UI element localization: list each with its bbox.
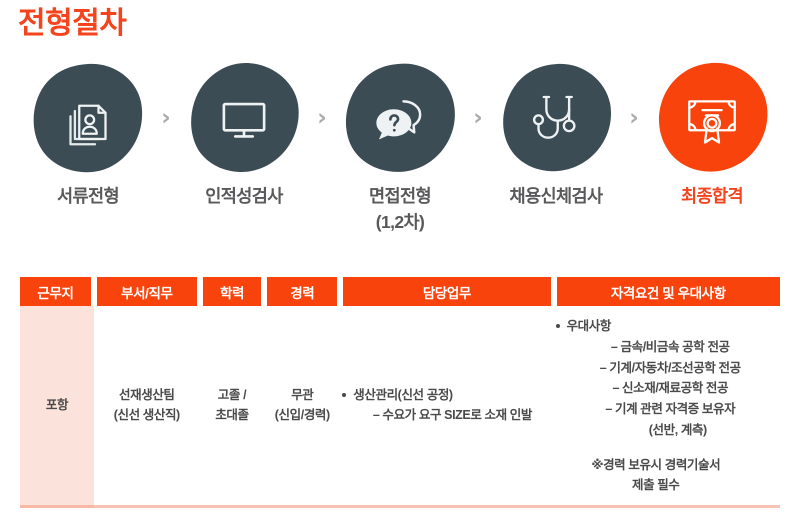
table-body: 포항 선재생산팀 (신선 생산직) 고졸 / 초대졸 무관 (신입/경력) [20, 306, 780, 508]
note-line-2: 제출 필수 [556, 476, 756, 495]
duties-bullet-item: 생산관리(신선 공정) [342, 385, 551, 405]
cell-qualifications: 우대사항 – 금속/비금속 공학 전공 – 기계/자동차/조선공학 전공 – 신… [554, 306, 780, 508]
column-header-duties: 담당업무 [340, 277, 553, 306]
step-icon-blob [32, 62, 144, 174]
stethoscope-icon [528, 90, 584, 146]
column-header-experience: 경력 [264, 277, 340, 306]
recruitment-process-flow: 서류전형 › 인적성검사 › [0, 62, 800, 257]
step-icon-blob [188, 62, 300, 174]
column-header-location: 근무지 [20, 277, 94, 306]
qualifications-bullet-text: 우대사항 [567, 316, 611, 336]
bullet-dot-icon [556, 324, 560, 328]
process-step-aptitude-test: 인적성검사 [183, 62, 305, 209]
monitor-icon [216, 90, 272, 146]
step-sublabel: (1,2차) [376, 209, 424, 234]
cell-department: 선재생산팀 (신선 생산직) [94, 306, 200, 508]
process-step-medical-exam: 채용신체검사 [495, 62, 617, 209]
experience-line-2: (신입/경력) [266, 405, 338, 425]
bullet-dot-icon [342, 393, 346, 397]
qualifications-sub-item-4: – 기계 관련 자격증 보유자 [556, 399, 778, 420]
note-line-1: ※경력 보유시 경력기술서 [556, 456, 756, 475]
duties-sub-item: – 수요가 요구 SIZE로 소재 인발 [342, 405, 551, 425]
qualifications-sub-item-3: – 신소재/재료공학 전공 [556, 378, 778, 399]
qualifications-bullet-item: 우대사항 [556, 316, 778, 336]
step-icon-blob [656, 62, 768, 174]
cell-location: 포항 [20, 306, 94, 508]
document-person-icon [60, 90, 116, 146]
qualifications-sub-item-2: – 기계/자동차/조선공학 전공 [556, 358, 778, 379]
cell-education: 고졸 / 초대졸 [200, 306, 265, 508]
department-line-1: 선재생산팀 [96, 385, 198, 405]
step-label: 채용신체검사 [510, 185, 603, 209]
step-icon-blob [344, 62, 456, 174]
process-separator-chevron-icon: › [149, 62, 183, 174]
table-header-row: 근무지 부서/직무 학력 경력 담당업무 자격요건 및 우대사항 [20, 277, 780, 306]
speech-bubble-question-icon [372, 90, 428, 146]
department-line-2: (신선 생산직) [96, 405, 198, 425]
job-posting-table: 근무지 부서/직무 학력 경력 담당업무 자격요건 및 우대사항 포항 선재생산… [20, 277, 780, 508]
education-line-1: 고졸 / [202, 385, 263, 405]
page-title: 전형절차 [18, 6, 126, 42]
process-step-interview: 면접전형 (1,2차) [339, 62, 461, 234]
qualifications-sub-item-1: – 금속/비금속 공학 전공 [556, 337, 778, 358]
certificate-award-icon [684, 90, 740, 146]
education-line-2: 초대졸 [202, 405, 263, 425]
duties-bullet-text: 생산관리(신선 공정) [353, 385, 452, 405]
step-icon-blob [500, 62, 612, 174]
table-header: 근무지 부서/직무 학력 경력 담당업무 자격요건 및 우대사항 [20, 277, 780, 306]
process-separator-chevron-icon: › [461, 62, 495, 174]
experience-line-1: 무관 [266, 385, 338, 405]
qualifications-note: ※경력 보유시 경력기술서 제출 필수 [556, 456, 778, 495]
qualifications-sub-item-4-detail: (선반, 계측) [556, 420, 778, 441]
column-header-education: 학력 [200, 277, 265, 306]
cell-experience: 무관 (신입/경력) [264, 306, 340, 508]
column-header-qualifications: 자격요건 및 우대사항 [554, 277, 780, 306]
process-step-final-acceptance: 최종합격 [651, 62, 773, 209]
step-label: 서류전형 [57, 185, 119, 209]
step-label: 면접전형 [369, 185, 431, 209]
table-row: 포항 선재생산팀 (신선 생산직) 고졸 / 초대졸 무관 (신입/경력) [20, 306, 780, 508]
column-header-department: 부서/직무 [94, 277, 200, 306]
step-label: 인적성검사 [205, 185, 283, 209]
cell-duties: 생산관리(신선 공정) – 수요가 요구 SIZE로 소재 인발 [340, 306, 553, 508]
step-label: 최종합격 [681, 185, 743, 209]
process-separator-chevron-icon: › [305, 62, 339, 174]
process-separator-chevron-icon: › [617, 62, 651, 174]
process-step-document-screening: 서류전형 [27, 62, 149, 209]
